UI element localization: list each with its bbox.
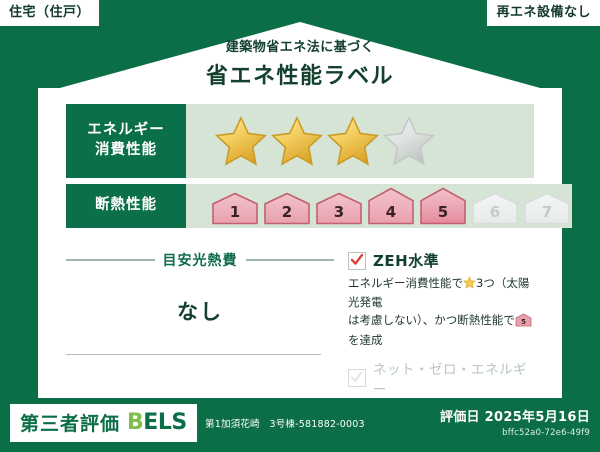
evaluation-date: 評価日 2025年5月16日 xyxy=(440,406,590,425)
insulation-scale: 1234567 xyxy=(210,187,572,225)
insulation-level-6: 6 xyxy=(470,192,520,225)
row-insulation-label: 断熱性能 xyxy=(95,196,157,216)
bels-jp-text: 第三者評価 xyxy=(20,409,120,436)
rule-left xyxy=(66,259,155,261)
insulation-level-2: 2 xyxy=(262,192,312,225)
mini-house-number: 5 xyxy=(521,318,526,326)
zeh-title: ZEH水準 xyxy=(373,250,439,271)
bels-en-text: BELS xyxy=(127,410,187,435)
utility-cost-block: 目安光熱費 なし xyxy=(66,250,334,398)
house-shape xyxy=(366,187,416,225)
utility-cost-value: なし xyxy=(66,296,334,326)
utility-cost-divider xyxy=(66,354,321,355)
row-insulation-head: 断熱性能 xyxy=(66,184,186,228)
insulation-level-1: 1 xyxy=(210,192,260,225)
footer: 第三者評価 BELS 第1加須花崎 3号棟-581882-0003 評価日 20… xyxy=(0,398,600,452)
evaluation-date-block: 評価日 2025年5月16日 bffc52a0-72e6-49f9 xyxy=(440,406,590,438)
performance-rows: エネルギー 消費性能 断熱性能 1234567 xyxy=(66,104,534,234)
house-shape xyxy=(210,192,260,225)
zeh-desc-part3: を達成 xyxy=(348,333,383,347)
net-zero-row: ネット・ゼロ・エネルギー xyxy=(348,358,534,398)
star-empty-icon xyxy=(382,115,436,167)
insulation-level-7: 7 xyxy=(522,192,572,225)
title-subtitle: 建築物省エネ法に基づく xyxy=(38,36,562,55)
zeh-row: ZEH水準 xyxy=(348,250,534,271)
mini-house-badge: 5 xyxy=(515,313,532,332)
house-shape xyxy=(262,192,312,225)
bels-logo: 第三者評価 BELS xyxy=(10,404,197,442)
star-filled-icon xyxy=(326,115,380,167)
house-shape xyxy=(522,192,572,225)
row-insulation-body: 1234567 xyxy=(186,184,572,228)
zeh-block: ZEH水準 エネルギー消費性能で 3つ（太陽光発電 は考慮しない）、かつ断熱性能… xyxy=(334,250,534,398)
utility-cost-heading: 目安光熱費 xyxy=(66,250,334,270)
house-shape xyxy=(314,192,364,225)
row-insulation-performance: 断熱性能 1234567 xyxy=(66,184,534,228)
row-energy-body xyxy=(186,104,534,178)
zeh-desc-part1: エネルギー消費性能で xyxy=(348,276,463,290)
insulation-level-4: 4 xyxy=(366,187,416,225)
star-filled-icon xyxy=(214,115,268,167)
house-shape xyxy=(470,192,520,225)
utility-cost-title: 目安光熱費 xyxy=(163,250,238,270)
zeh-description: エネルギー消費性能で 3つ（太陽光発電 は考慮しない）、かつ断熱性能で 5 を達… xyxy=(348,275,534,349)
bels-letter-b: B xyxy=(127,410,143,435)
insulation-level-5: 5 xyxy=(418,187,468,225)
tag-renewable-equipment: 再エネ設備なし xyxy=(487,0,600,26)
title-block: 建築物省エネ法に基づく 省エネ性能ラベル xyxy=(38,36,562,90)
building-id: 第1加須花崎 3号棟-581882-0003 xyxy=(205,416,365,430)
star-rating xyxy=(214,115,436,167)
zeh-desc-part2: は考慮しない）、かつ断熱性能で xyxy=(348,313,515,327)
row-energy-performance: エネルギー 消費性能 xyxy=(66,104,534,178)
house-shape xyxy=(418,187,468,225)
mini-star-icon xyxy=(463,276,476,294)
net-zero-checkbox[interactable] xyxy=(348,369,366,387)
energy-label: 住宅（住戸） 再エネ設備なし 建築物省エネ法に基づく 省エネ性能ラベル エネルギ… xyxy=(0,0,600,452)
row-energy-label-2: 消費性能 xyxy=(95,141,157,161)
row-energy-label-1: エネルギー xyxy=(87,121,165,141)
check-icon xyxy=(350,253,364,267)
insulation-level-3: 3 xyxy=(314,192,364,225)
bels-letters-els: ELS xyxy=(143,410,186,435)
rule-right xyxy=(246,259,335,261)
check-icon-muted xyxy=(350,371,363,384)
lower-section: 目安光熱費 なし ZEH水準 エネルギー消費性能で 3つ（太陽光発電 xyxy=(66,250,534,398)
tag-building-type: 住宅（住戸） xyxy=(0,0,99,26)
star-filled-icon xyxy=(270,115,324,167)
page-title: 省エネ性能ラベル xyxy=(38,58,562,90)
zeh-checkbox[interactable] xyxy=(348,252,366,270)
label-hash: bffc52a0-72e6-49f9 xyxy=(440,428,590,438)
net-zero-label: ネット・ゼロ・エネルギー xyxy=(373,358,534,398)
row-energy-head: エネルギー 消費性能 xyxy=(66,104,186,178)
